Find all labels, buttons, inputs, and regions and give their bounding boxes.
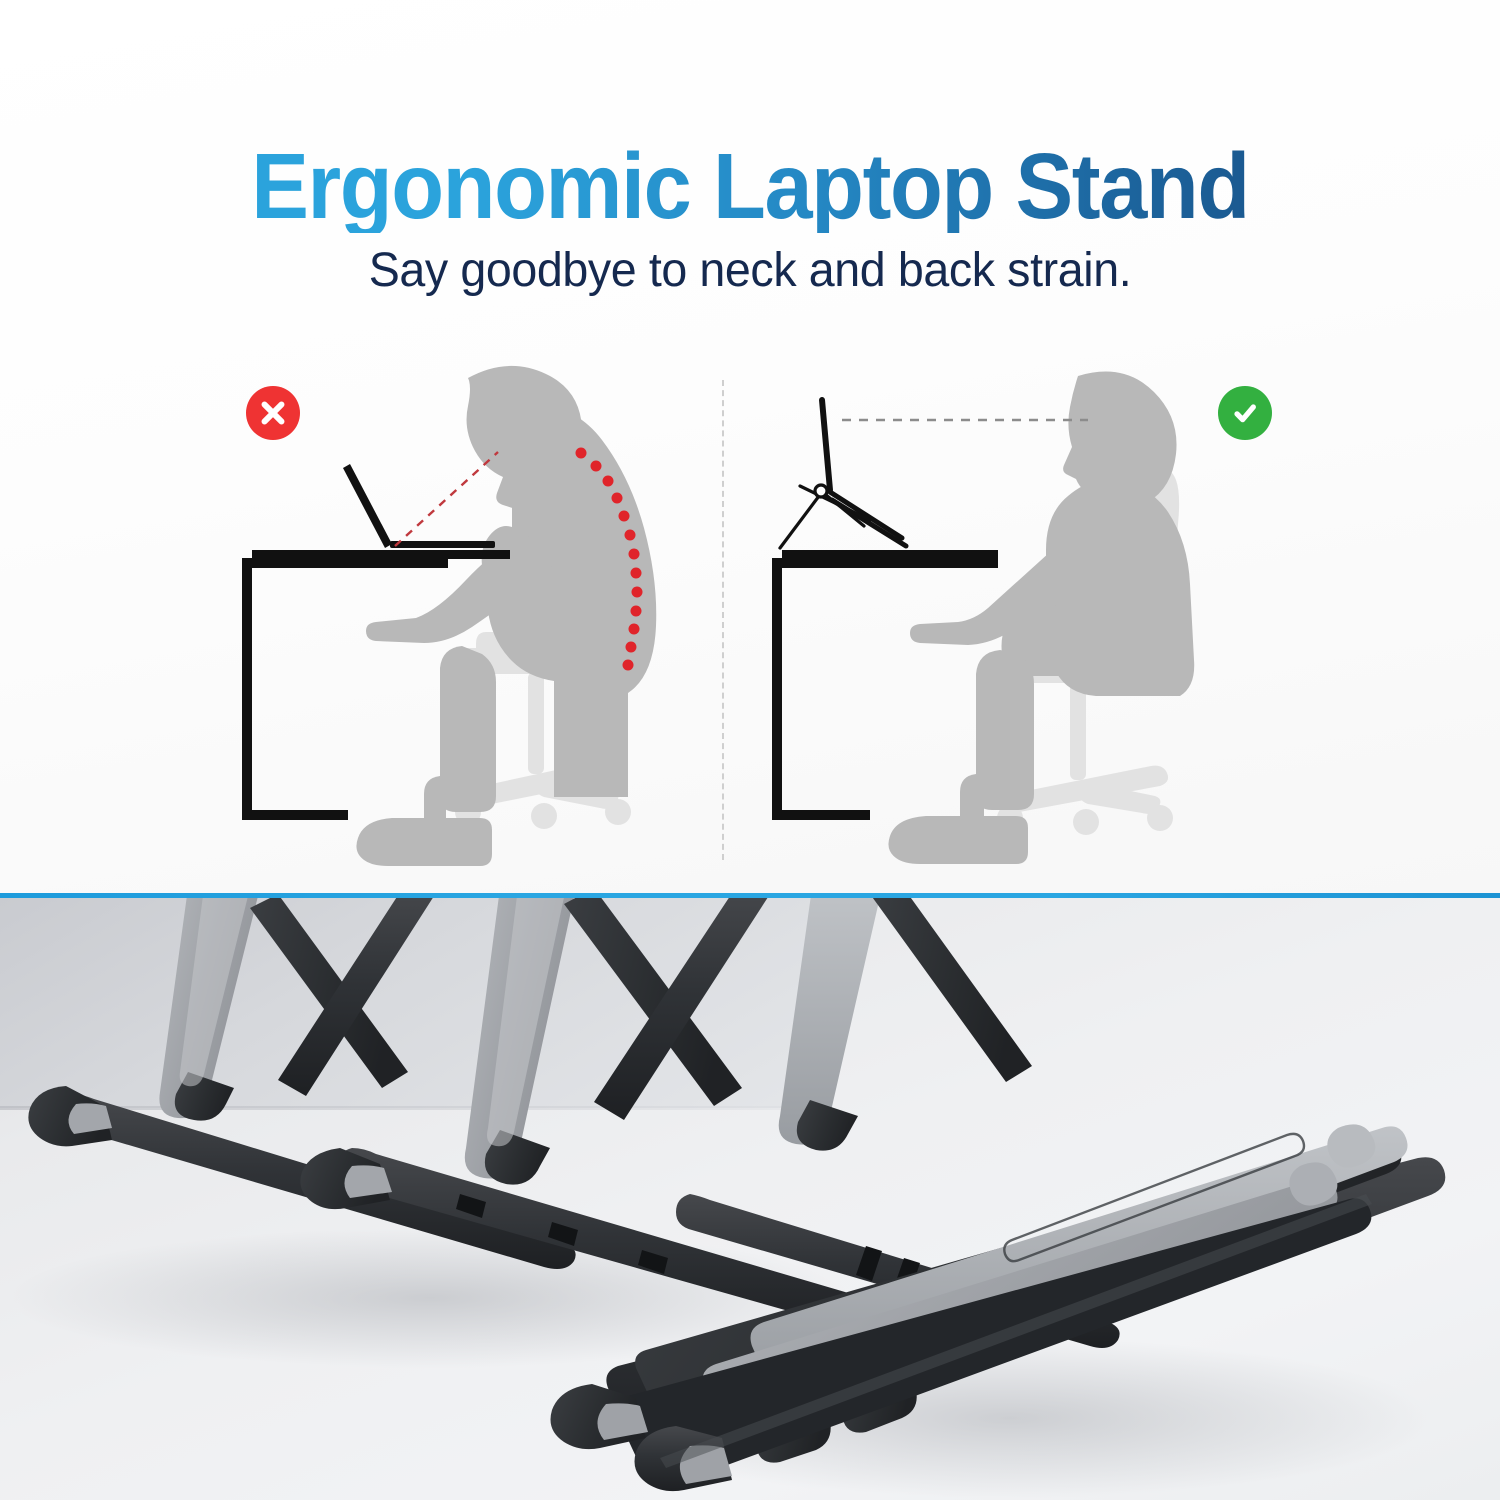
posture-comparison [0, 360, 1500, 870]
panel-divider [722, 380, 724, 860]
bad-posture-illustration [240, 360, 710, 870]
good-posture-illustration [760, 360, 1270, 870]
laptop-on-stand [780, 400, 906, 548]
bad-posture-panel [240, 360, 710, 870]
product-infographic: Ergonomic Laptop Stand Say goodbye to ne… [0, 0, 1500, 1500]
section-divider [0, 893, 1500, 898]
page-title: Ergonomic Laptop Stand [53, 140, 1448, 233]
product-photo [0, 898, 1500, 1500]
sight-line [395, 452, 498, 546]
hero-section: Ergonomic Laptop Stand Say goodbye to ne… [0, 0, 1500, 895]
product-photo-section [0, 898, 1500, 1500]
page-subtitle: Say goodbye to neck and back strain. [23, 243, 1478, 298]
page-title-wrap: Ergonomic Laptop Stand [0, 140, 1500, 233]
good-posture-panel [760, 360, 1270, 870]
laptop-flat [343, 464, 495, 548]
